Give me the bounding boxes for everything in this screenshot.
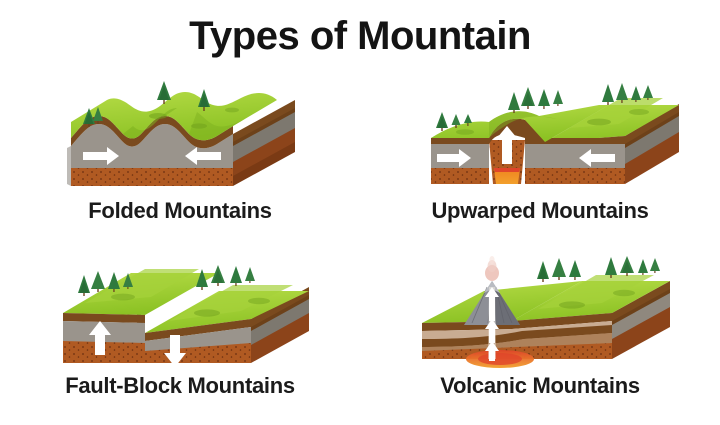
upwarped-mountains-figure xyxy=(393,72,693,200)
diagram-card-volcanic: Volcanic Mountains xyxy=(360,247,720,422)
fault-block-mountains-figure xyxy=(27,247,327,375)
folded-mountains-figure xyxy=(27,72,327,200)
diagram-card-fault-block: Fault-Block Mountains xyxy=(0,247,360,422)
tree-cluster-upwarped-center xyxy=(508,87,563,113)
diagram-card-folded: Folded Mountains xyxy=(0,72,360,247)
diagram-grid: Folded Mountains xyxy=(0,72,720,422)
caption-upwarped: Upwarped Mountains xyxy=(431,198,648,224)
caption-folded: Folded Mountains xyxy=(88,198,271,224)
diagram-card-upwarped: Upwarped Mountains xyxy=(360,72,720,247)
caption-volcanic: Volcanic Mountains xyxy=(440,373,640,399)
tree-cluster-volcanic-center xyxy=(537,258,581,282)
page-title: Types of Mountain xyxy=(0,0,720,56)
tree-cluster-volcanic-right xyxy=(605,256,660,278)
caption-fault-block: Fault-Block Mountains xyxy=(65,373,295,399)
volcanic-mountains-figure xyxy=(392,247,692,375)
